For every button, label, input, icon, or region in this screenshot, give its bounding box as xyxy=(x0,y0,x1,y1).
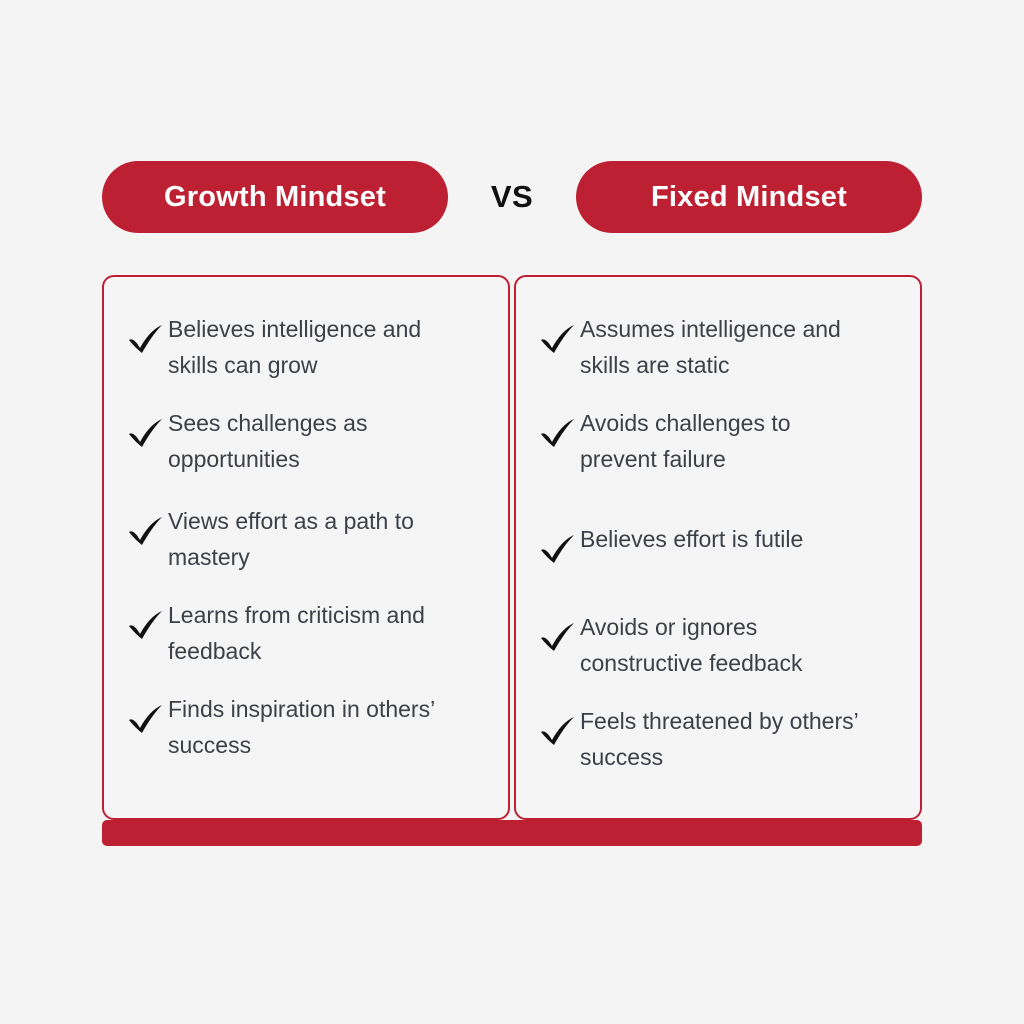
check-icon xyxy=(124,511,168,551)
growth-mindset-card: Believes intelligence and skills can gro… xyxy=(102,275,510,820)
check-icon xyxy=(124,319,168,359)
growth-mindset-pill[interactable]: Growth Mindset xyxy=(102,161,448,233)
bottom-accent-bar xyxy=(102,820,922,846)
list-item-label: Avoids challenges to prevent failure xyxy=(580,405,872,477)
list-item: Avoids challenges to prevent failure xyxy=(536,405,900,477)
list-item-label: Finds inspiration in others’ success xyxy=(168,691,460,763)
versus-label: VS xyxy=(491,179,533,215)
list-item-label: Assumes intelligence and skills are stat… xyxy=(580,311,872,383)
fixed-mindset-card: Assumes intelligence and skills are stat… xyxy=(514,275,922,820)
list-item: Finds inspiration in others’ success xyxy=(124,691,488,763)
list-item-label: Believes intelligence and skills can gro… xyxy=(168,311,460,383)
list-item: Sees challenges as opportunities xyxy=(124,405,488,477)
list-item: Believes effort is futile xyxy=(536,521,900,569)
check-icon xyxy=(124,605,168,645)
check-icon xyxy=(536,413,580,453)
list-item: Views effort as a path to mastery xyxy=(124,503,488,575)
list-item-label: Learns from criticism and feedback xyxy=(168,597,460,669)
list-item: Assumes intelligence and skills are stat… xyxy=(536,311,900,383)
list-item: Feels threatened by others’ success xyxy=(536,703,900,775)
list-item: Avoids or ignores constructive feedback xyxy=(536,609,900,681)
fixed-mindset-pill-label: Fixed Mindset xyxy=(651,181,847,214)
check-icon xyxy=(536,319,580,359)
list-item: Learns from criticism and feedback xyxy=(124,597,488,669)
fixed-mindset-list: Assumes intelligence and skills are stat… xyxy=(536,311,900,775)
check-icon xyxy=(124,413,168,453)
growth-mindset-pill-label: Growth Mindset xyxy=(164,181,386,214)
list-item-label: Feels threatened by others’ success xyxy=(580,703,872,775)
check-icon xyxy=(536,617,580,657)
check-icon xyxy=(536,529,580,569)
check-icon xyxy=(536,711,580,751)
list-item-label: Avoids or ignores constructive feedback xyxy=(580,609,872,681)
list-item: Believes intelligence and skills can gro… xyxy=(124,311,488,383)
list-item-label: Believes effort is futile xyxy=(580,521,803,557)
fixed-mindset-pill[interactable]: Fixed Mindset xyxy=(576,161,922,233)
comparison-cards-row: Believes intelligence and skills can gro… xyxy=(102,275,922,820)
mindset-comparison-infographic: Growth Mindset VS Fixed Mindset Believes… xyxy=(0,0,1024,1024)
header-row: Growth Mindset VS Fixed Mindset xyxy=(102,161,922,233)
list-item-label: Views effort as a path to mastery xyxy=(168,503,460,575)
list-item-label: Sees challenges as opportunities xyxy=(168,405,460,477)
check-icon xyxy=(124,699,168,739)
growth-mindset-list: Believes intelligence and skills can gro… xyxy=(124,311,488,763)
